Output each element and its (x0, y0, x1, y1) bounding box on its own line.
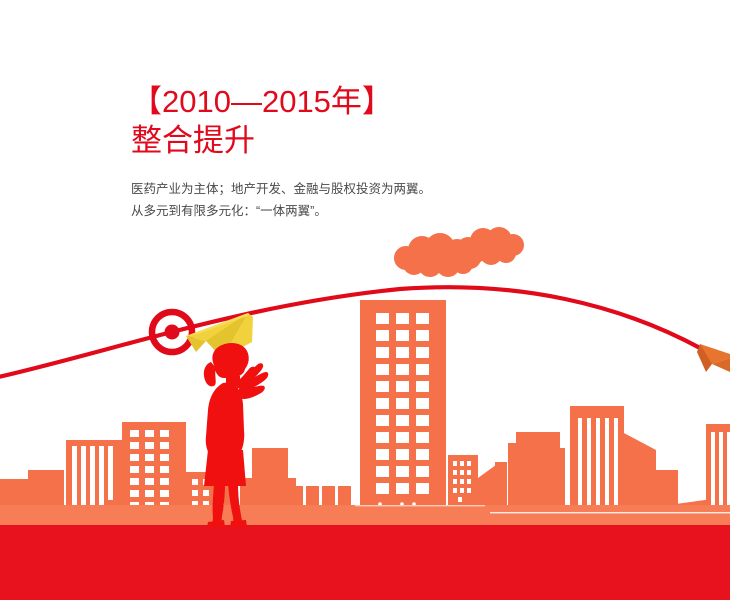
target-ring (152, 312, 192, 352)
page-title-line-1: 【2010—2015年】 (131, 84, 551, 120)
cloud-pair (394, 227, 524, 277)
body-text-line-2: 从多元到有限多元化：“一体两翼”。 (131, 200, 551, 222)
body-text-block: 医药产业为主体；地产开发、金融与股权投资为两翼。 从多元到有限多元化：“一体两翼… (131, 178, 551, 222)
ground-divider-line (490, 512, 730, 513)
ground-divider-line-left (355, 505, 485, 506)
skyline-buildings (0, 300, 730, 527)
page-title-line-2: 整合提升 (131, 122, 551, 160)
orange-paper-plane (697, 344, 730, 372)
body-text-line-1: 医药产业为主体；地产开发、金融与股权投资为两翼。 (131, 178, 551, 200)
red-ground-band (0, 525, 730, 600)
text-block: 【2010—2015年】 整合提升 医药产业为主体；地产开发、金融与股权投资为两… (131, 84, 551, 222)
ground-strip (0, 505, 730, 527)
slide-canvas: 【2010—2015年】 整合提升 医药产业为主体；地产开发、金融与股权投资为两… (0, 0, 730, 600)
red-growth-arc (0, 287, 700, 378)
